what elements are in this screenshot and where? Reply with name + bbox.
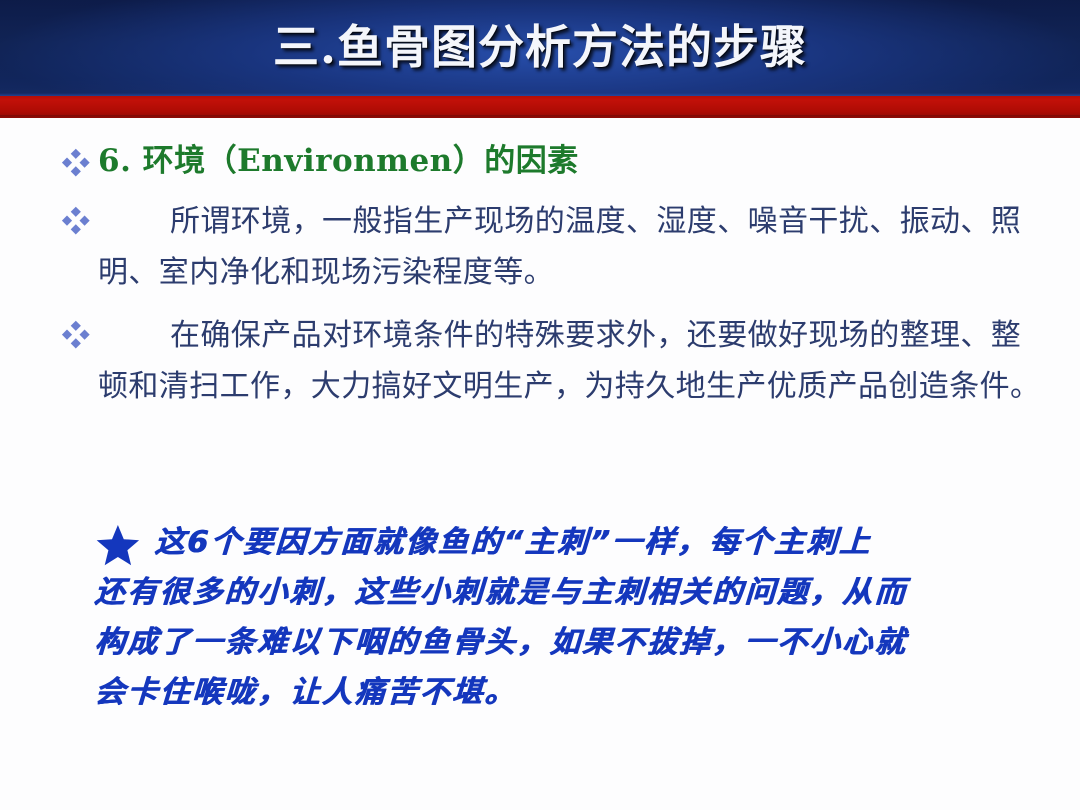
paragraph-row-2: 在确保产品对环境条件的特殊要求外，还要做好现场的整理、整顿和清扫工作，大力搞好文… — [0, 310, 1080, 412]
highlight-line-1-text: 这6个要因方面就像鱼的“主刺”一样，每个主刺上 — [154, 518, 874, 568]
paragraph-row-1: 所谓环境，一般指生产现场的温度、湿度、噪音干扰、振动、照明、室内净化和现场污染程… — [0, 196, 1080, 298]
paragraph-text-1: 所谓环境，一般指生产现场的温度、湿度、噪音干扰、振动、照明、室内净化和现场污染程… — [98, 196, 1050, 298]
header-accent-red-band — [0, 96, 1080, 118]
highlight-line-3-text: 构成了一条难以下咽的鱼骨头，如果不拔掉，一不小心就 — [94, 618, 909, 668]
slide-body: 6. 环境（Environmen）的因素 所谓环境，一般指生产现场的温度、湿度、… — [0, 118, 1080, 810]
diamond-cluster-bullet-icon — [60, 148, 90, 178]
star-icon — [95, 522, 141, 568]
highlight-line-2-text: 还有很多的小刺，这些小刺就是与主刺相关的问题，从而 — [94, 568, 909, 618]
highlight-line-4-text: 会卡住喉咙，让人痛苦不堪。 — [94, 668, 519, 718]
highlight-line-1: 这6个要因方面就像鱼的“主刺”一样，每个主刺上 — [94, 518, 1027, 568]
highlight-line-4: 会卡住喉咙，让人痛苦不堪。 — [94, 668, 1027, 718]
section-heading-text: 6. 环境（Environmen）的因素 — [98, 140, 1080, 182]
section-heading-row: 6. 环境（Environmen）的因素 — [0, 140, 1080, 182]
diamond-cluster-bullet-icon — [60, 320, 90, 350]
highlight-line-2: 还有很多的小刺，这些小刺就是与主刺相关的问题，从而 — [94, 568, 1027, 618]
diamond-cluster-bullet-icon — [60, 206, 90, 236]
highlight-callout: 这6个要因方面就像鱼的“主刺”一样，每个主刺上 还有很多的小刺，这些小刺就是与主… — [95, 518, 1025, 718]
highlight-line-3: 构成了一条难以下咽的鱼骨头，如果不拔掉，一不小心就 — [94, 618, 1027, 668]
presentation-slide: 三.鱼骨图分析方法的步骤 6. 环境（Environmen）的因素 — [0, 0, 1080, 810]
paragraph-text-2: 在确保产品对环境条件的特殊要求外，还要做好现场的整理、整顿和清扫工作，大力搞好文… — [98, 310, 1050, 412]
slide-title: 三.鱼骨图分析方法的步骤 — [0, 17, 1080, 77]
